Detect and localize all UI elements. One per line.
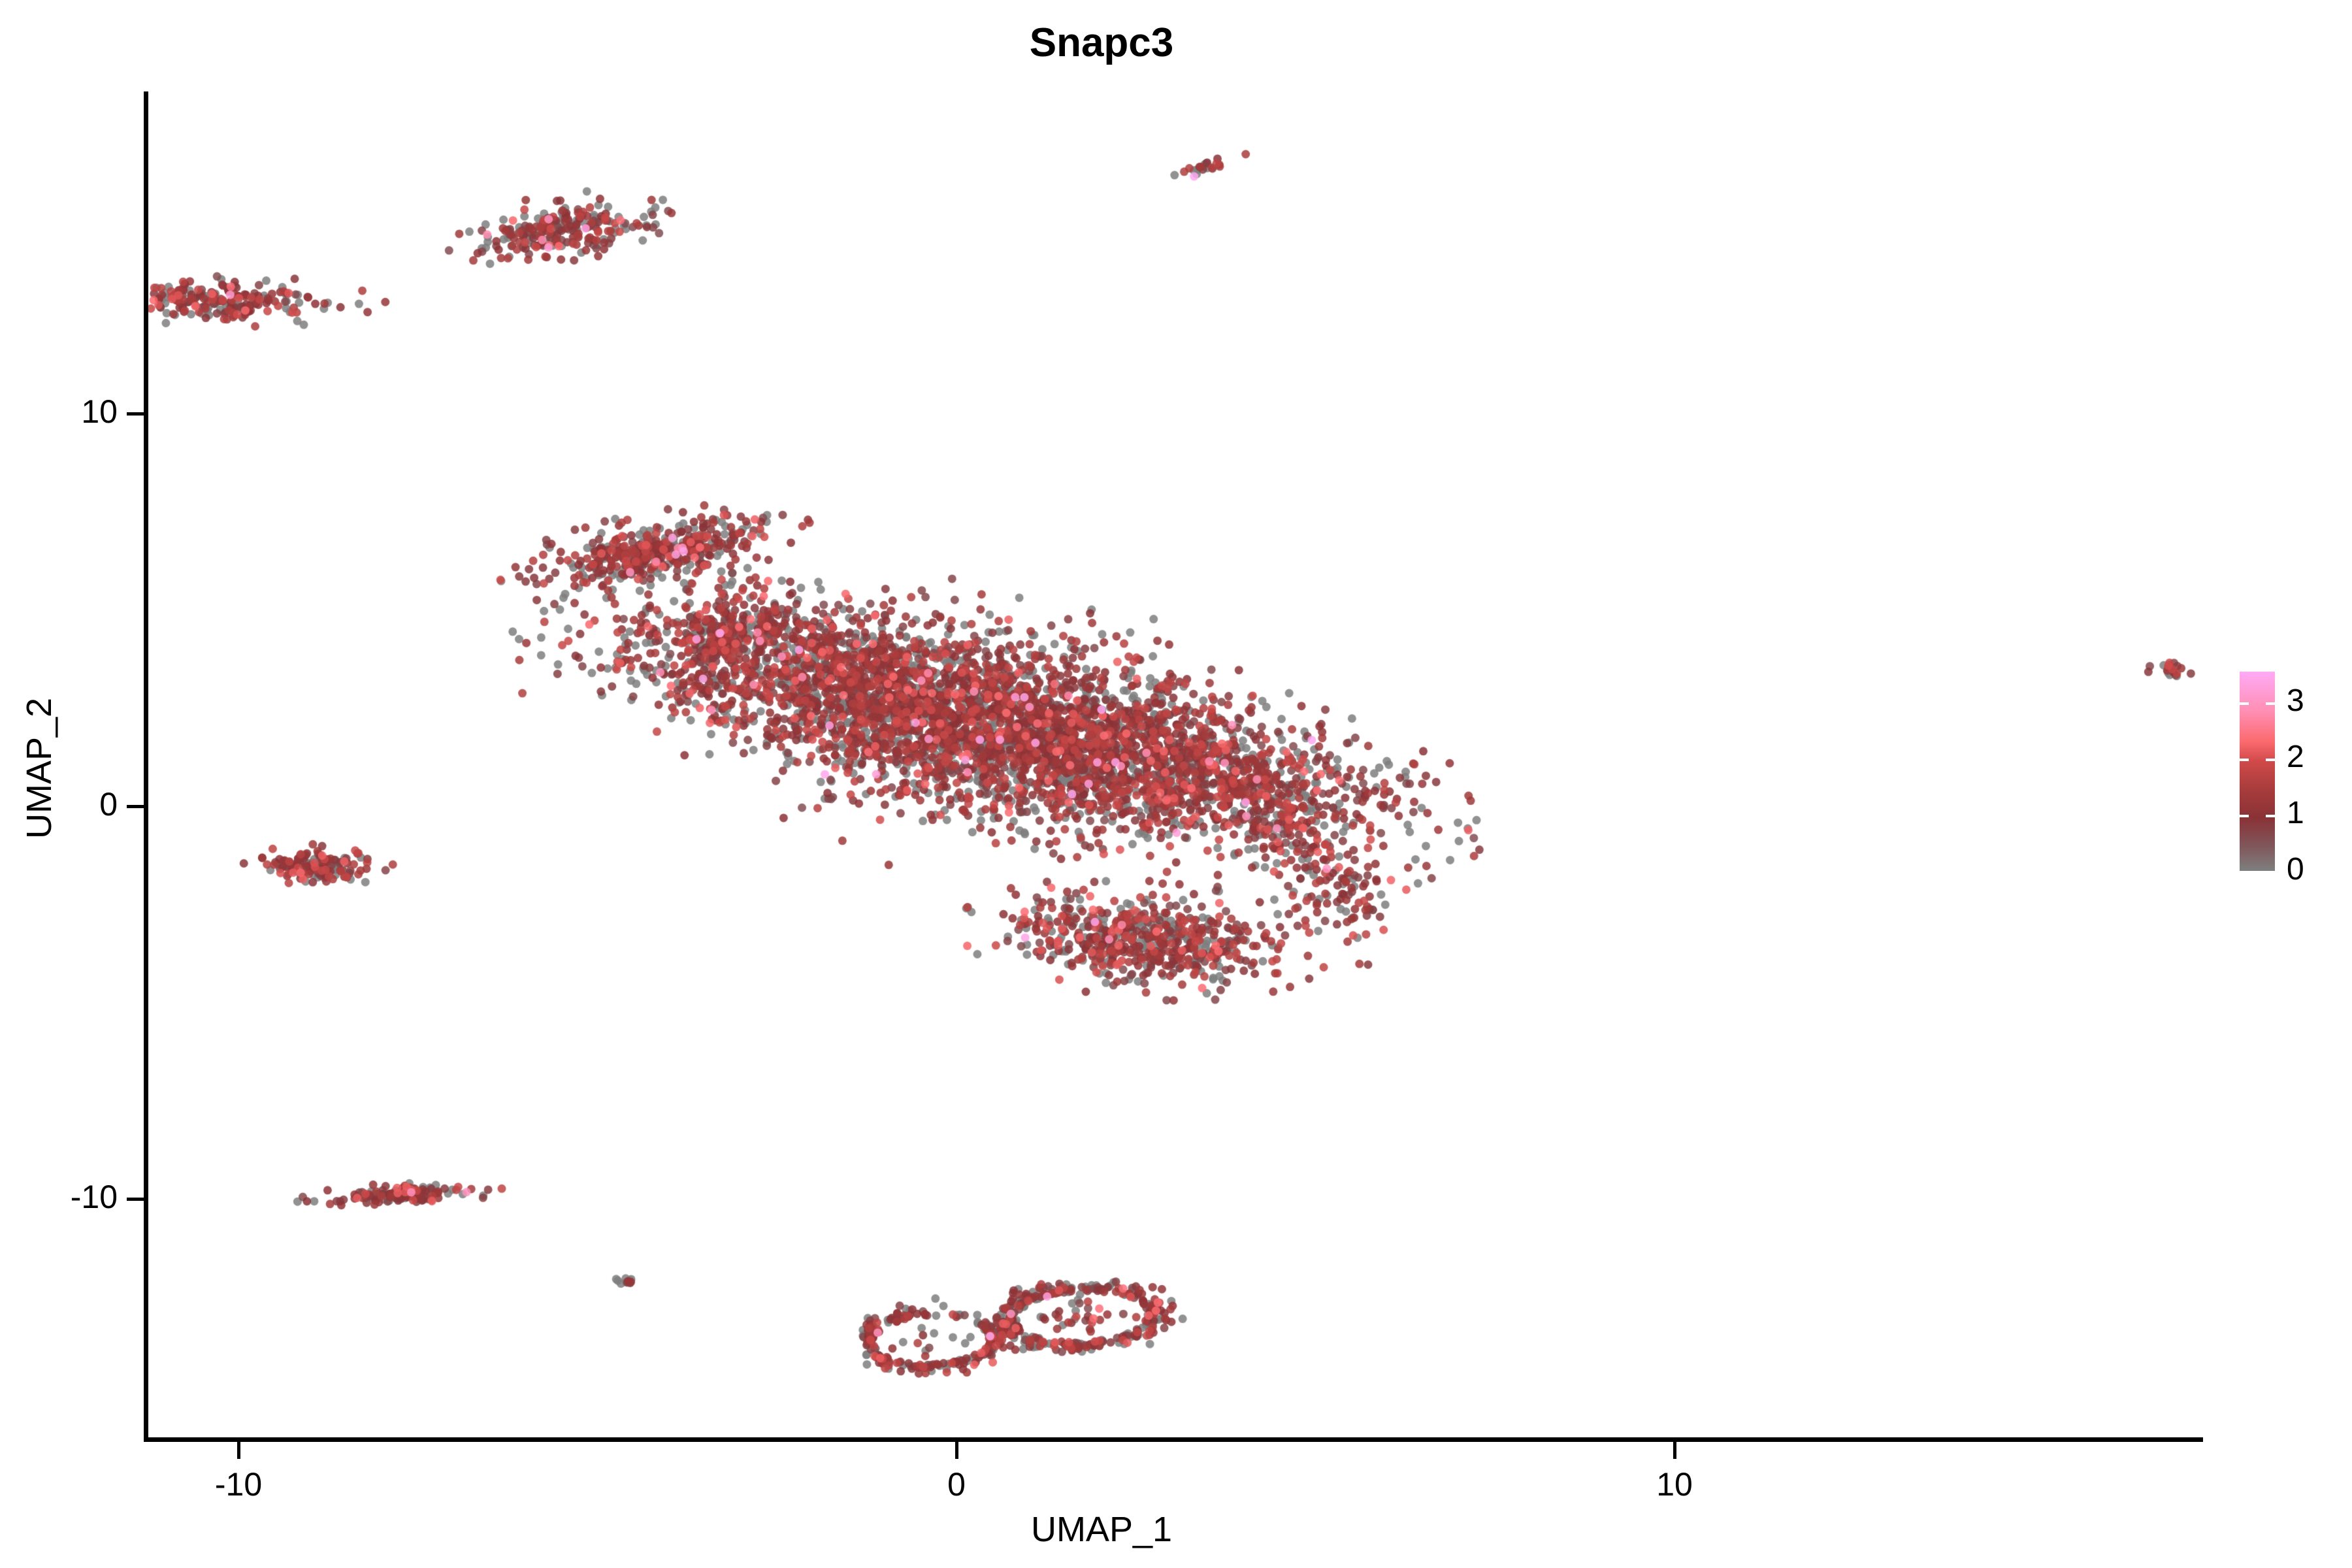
colorbar-tick xyxy=(2266,871,2275,874)
colorbar-label: 2 xyxy=(2287,742,2304,773)
x-axis-tick-label: 10 xyxy=(1596,1465,1753,1503)
colorbar-tick xyxy=(2240,871,2249,874)
colorbar-tick xyxy=(2240,815,2249,817)
y-axis-tick xyxy=(127,1198,144,1201)
y-axis-tick-label: -10 xyxy=(7,1178,118,1216)
y-axis-title: UMAP_2 xyxy=(19,376,59,1160)
x-axis-tick xyxy=(237,1442,240,1459)
y-axis-tick xyxy=(127,412,144,416)
y-axis-line xyxy=(144,91,148,1441)
umap-feature-plot: Snapc3 -10 0 10 10 0 -10 UMAP_1 UMAP_2 3… xyxy=(0,0,2352,1568)
colorbar-label: 1 xyxy=(2287,798,2304,829)
x-axis-line xyxy=(144,1437,2203,1442)
x-axis-tick xyxy=(1673,1442,1676,1459)
y-axis-tick xyxy=(127,805,144,808)
colorbar-tick xyxy=(2266,815,2275,817)
colorbar-tick xyxy=(2266,702,2275,705)
colorbar-gradient xyxy=(2240,672,2275,871)
x-axis-tick-label: -10 xyxy=(160,1465,317,1503)
scatter-plot-canvas xyxy=(0,0,2352,1568)
x-axis-tick xyxy=(955,1442,958,1459)
colorbar-legend: 3 2 1 0 xyxy=(2234,666,2345,882)
colorbar-label: 0 xyxy=(2287,854,2304,885)
colorbar-tick xyxy=(2266,759,2275,761)
x-axis-title: UMAP_1 xyxy=(0,1509,2203,1550)
x-axis-tick-label: 0 xyxy=(878,1465,1035,1503)
colorbar-tick xyxy=(2240,759,2249,761)
colorbar-tick xyxy=(2240,702,2249,705)
colorbar-label: 3 xyxy=(2287,685,2304,717)
